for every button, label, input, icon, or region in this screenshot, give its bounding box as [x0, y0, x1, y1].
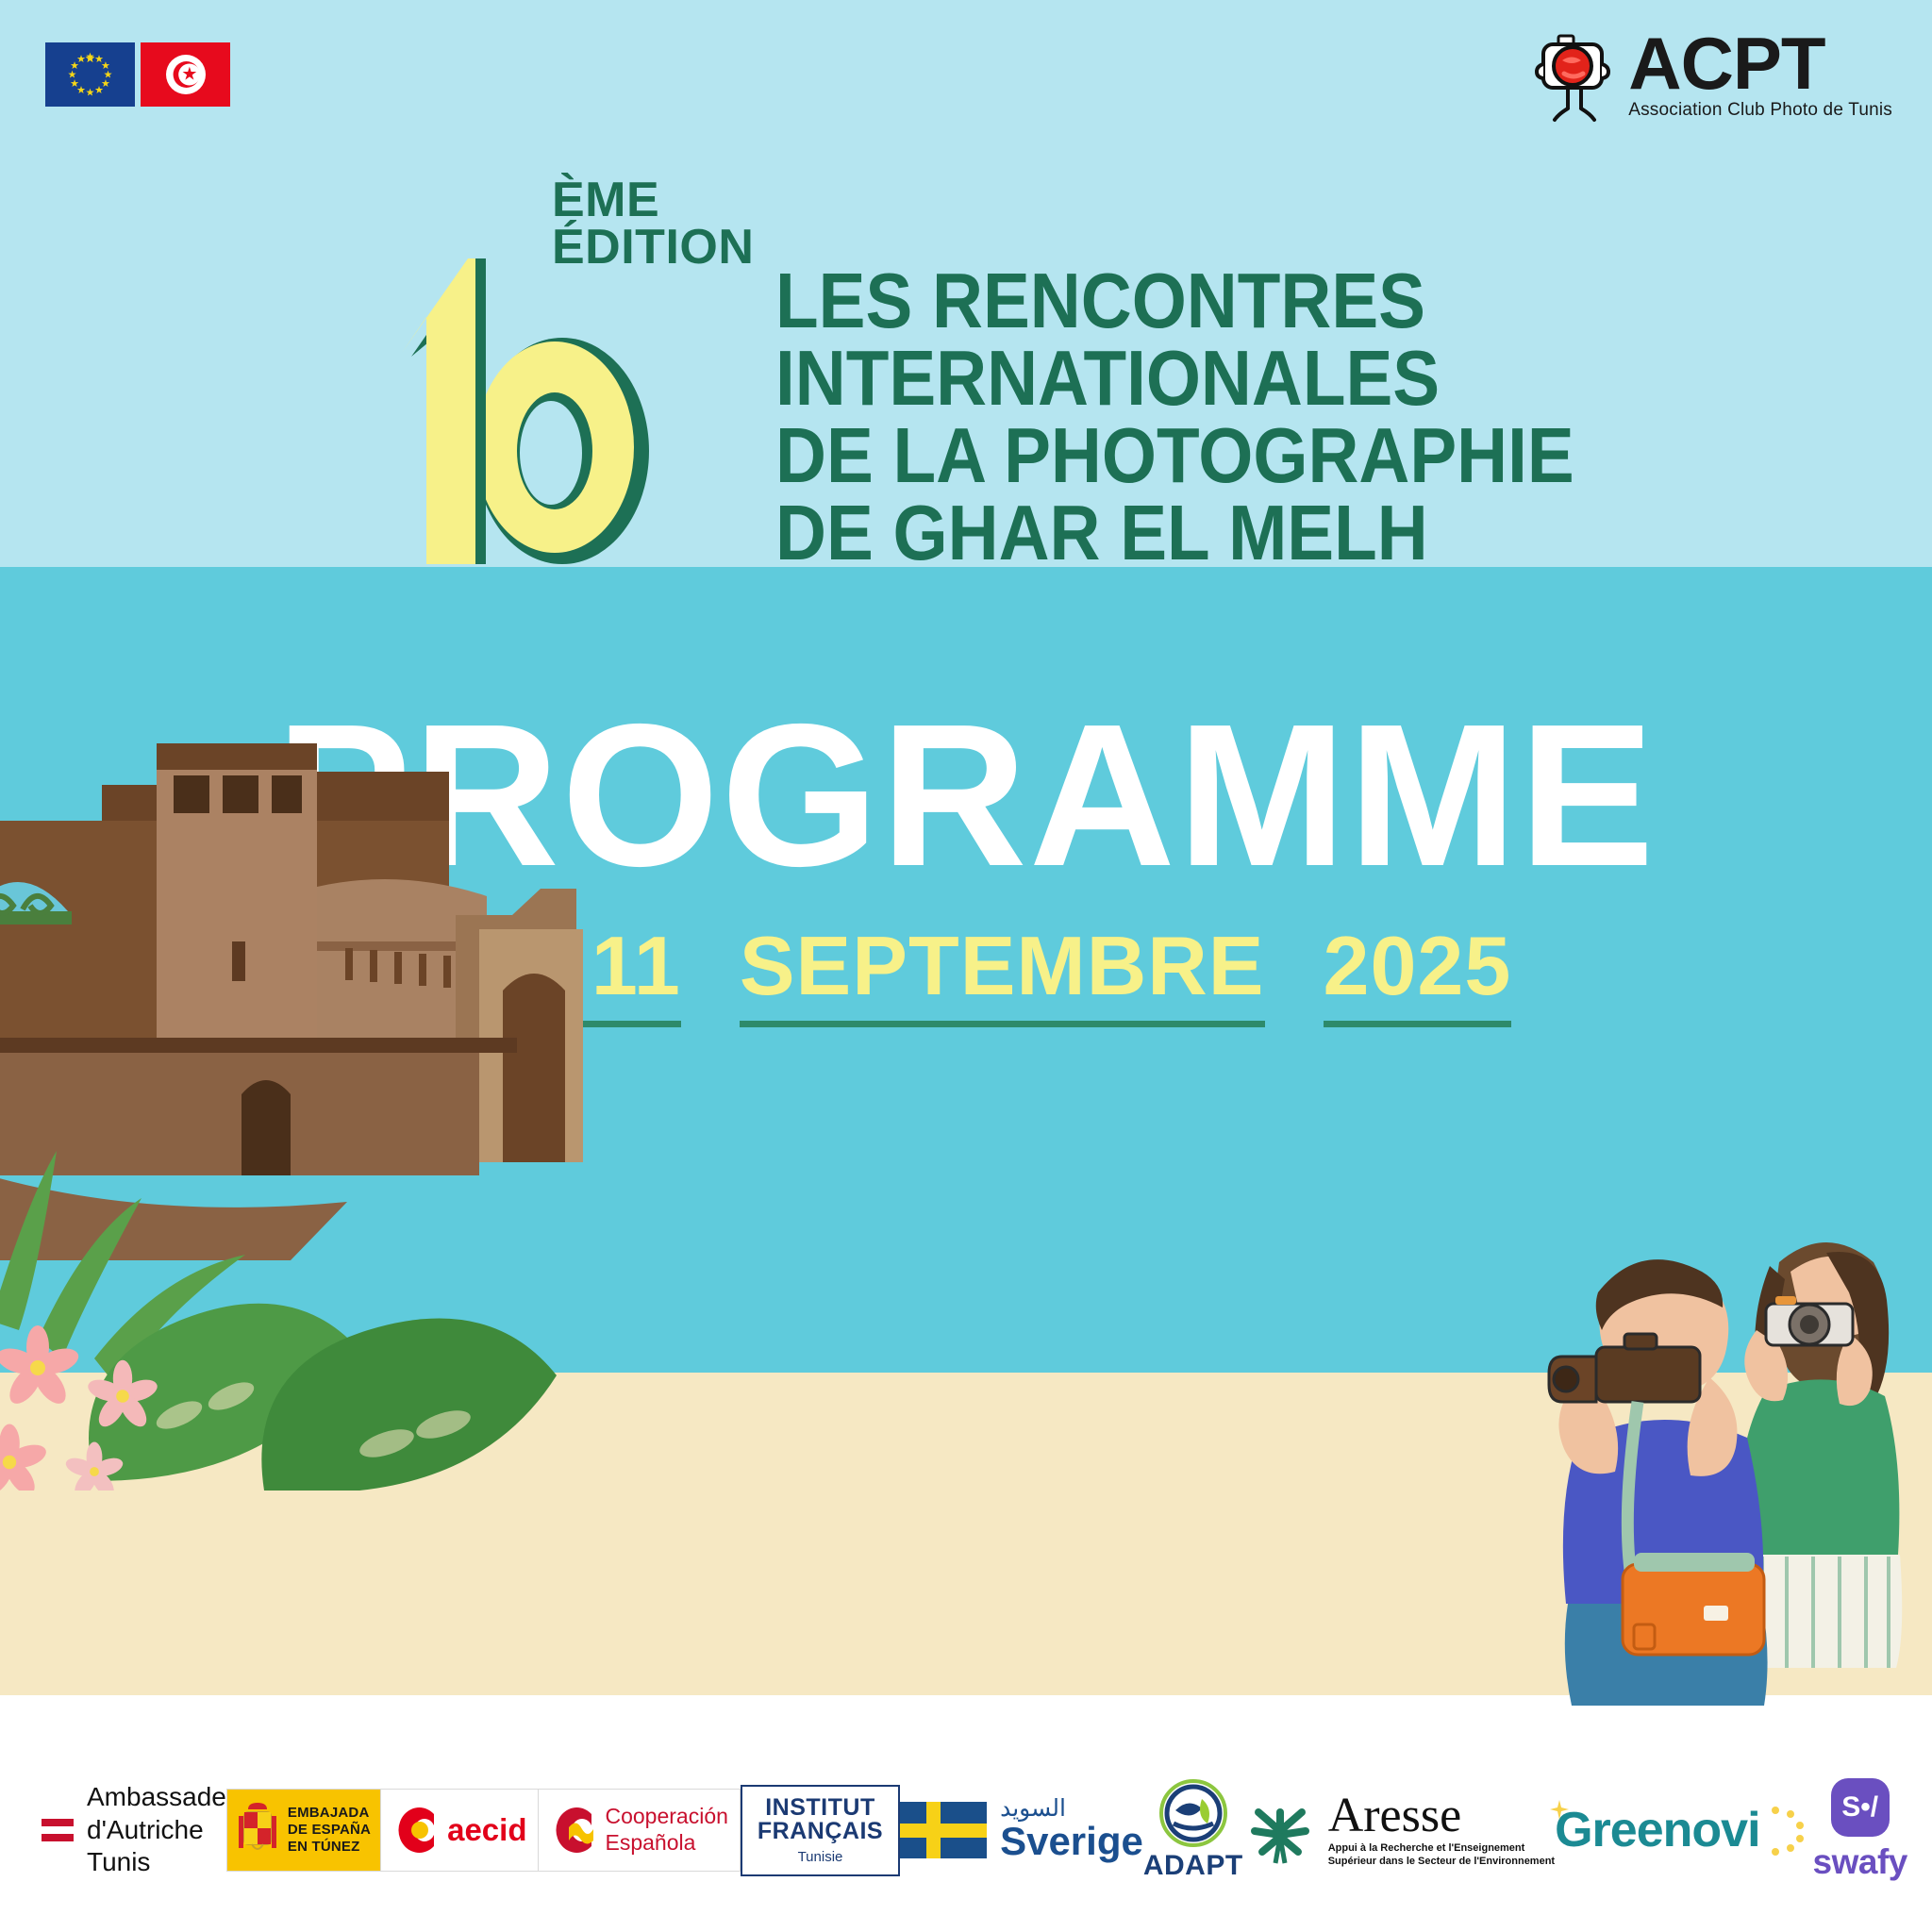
- swafy-mark-glyph: S•/: [1841, 1791, 1878, 1824]
- sponsor-aresse[interactable]: Aresse Appui à la Recherche et l'Enseign…: [1243, 1792, 1555, 1869]
- sponsor-greenovi[interactable]: Greenovi: [1555, 1802, 1812, 1858]
- cooperacion-line-2: Española: [605, 1830, 727, 1857]
- sverige-arabic: السويد: [1000, 1797, 1066, 1821]
- european-union-flag: [45, 42, 135, 107]
- edition-suffix-line2: ÉDITION: [552, 225, 754, 272]
- institut-line-1: INSTITUT: [758, 1796, 883, 1821]
- title-line-2: INTERNATIONALES: [775, 340, 1574, 417]
- cooperacion-c-icon: [550, 1803, 597, 1857]
- poster-root: ★ ACPT Association Club Photo de Tunis: [0, 0, 1932, 1932]
- greenovi-spark-icon: [1549, 1800, 1570, 1821]
- sweden-flag: [900, 1802, 987, 1858]
- aresse-tagline-2: Supérieur dans le Secteur de l'Environne…: [1328, 1856, 1555, 1869]
- partner-flags: ★: [45, 42, 230, 107]
- austria-line-3: Tunis: [87, 1846, 226, 1879]
- sponsor-logos: Ambassade d'Autriche Tunis: [0, 1755, 1932, 1906]
- embajada-espana-cell: EMBAJADA DE ESPAÑA EN TÚNEZ: [227, 1790, 381, 1871]
- aecid-c-icon: [392, 1803, 440, 1857]
- acpt-acronym: ACPT: [1628, 32, 1824, 94]
- aecid-cell: aecid: [381, 1790, 539, 1871]
- sponsor-ambassade-autriche[interactable]: Ambassade d'Autriche Tunis: [42, 1781, 226, 1879]
- festival-title: LES RENCONTRES INTERNATIONALES DE LA PHO…: [775, 262, 1663, 573]
- date-month-text: SEPTEMBRE: [740, 924, 1265, 1008]
- aecid-label: aecid: [447, 1812, 526, 1848]
- date-underline: [1324, 1021, 1512, 1027]
- cooperacion-line-1: Cooperación: [605, 1804, 727, 1830]
- sponsor-institut-francais[interactable]: INSTITUT FRANÇAIS Tunisie: [741, 1785, 900, 1876]
- title-line-1: LES RENCONTRES: [775, 262, 1574, 340]
- sponsor-adapt[interactable]: ADAPT: [1143, 1778, 1243, 1882]
- adapt-label: ADAPT: [1143, 1850, 1243, 1882]
- two-photographers-illustration: [1543, 1206, 1932, 1706]
- institut-line-2: FRANÇAIS: [758, 1820, 883, 1844]
- embajada-line-1: EMBAJADA: [288, 1805, 371, 1822]
- acpt-logo: ACPT Association Club Photo de Tunis: [1534, 32, 1892, 126]
- spain-coat-of-arms-icon: [233, 1799, 282, 1861]
- edition-suffix: ÈME ÉDITION: [552, 177, 754, 272]
- swafy-label: swafy: [1813, 1842, 1907, 1882]
- date-year-text: 2025: [1324, 924, 1512, 1008]
- acpt-subtitle: Association Club Photo de Tunis: [1628, 100, 1892, 121]
- date-chunk-month: SEPTEMBRE: [740, 924, 1265, 1027]
- camera-mascot-icon: [1534, 32, 1617, 126]
- austria-line-2: d'Autriche: [87, 1814, 226, 1847]
- tropical-plants-flowers-illustration: [0, 1085, 566, 1491]
- embajada-line-2: DE ESPAÑA: [288, 1822, 371, 1839]
- title-line-4: DE GHAR EL MELH: [775, 494, 1574, 572]
- title-line-3: DE LA PHOTOGRAPHIE: [775, 417, 1574, 494]
- date-underline: [740, 1021, 1265, 1027]
- swafy-mark-icon: S•/: [1831, 1778, 1890, 1837]
- institut-line-3: Tunisie: [798, 1849, 843, 1865]
- greenovi-stars-icon: [1762, 1803, 1813, 1857]
- embajada-line-3: EN TÚNEZ: [288, 1839, 371, 1856]
- adapt-fish-leaf-icon: [1158, 1778, 1228, 1848]
- tunisia-flag: ★: [141, 42, 230, 107]
- aresse-tagline-1: Appui à la Recherche et l'Enseignement: [1328, 1842, 1555, 1856]
- aresse-label: Aresse: [1328, 1792, 1555, 1839]
- sponsor-sverige[interactable]: السويد Sverige: [900, 1797, 1143, 1862]
- greenovi-label: Greenovi: [1555, 1802, 1759, 1858]
- cooperacion-espanola-cell: Cooperación Española: [539, 1790, 739, 1871]
- sponsor-swafy[interactable]: S•/ swafy: [1813, 1778, 1907, 1882]
- austria-flag: [42, 1819, 74, 1841]
- sverige-latin: Sverige: [1000, 1821, 1143, 1862]
- sponsor-spain-group[interactable]: EMBAJADA DE ESPAÑA EN TÚNEZ aecid: [226, 1789, 741, 1872]
- date-chunk-year: 2025: [1324, 924, 1512, 1027]
- aresse-tree-icon: [1243, 1793, 1317, 1867]
- austria-line-1: Ambassade: [87, 1781, 226, 1814]
